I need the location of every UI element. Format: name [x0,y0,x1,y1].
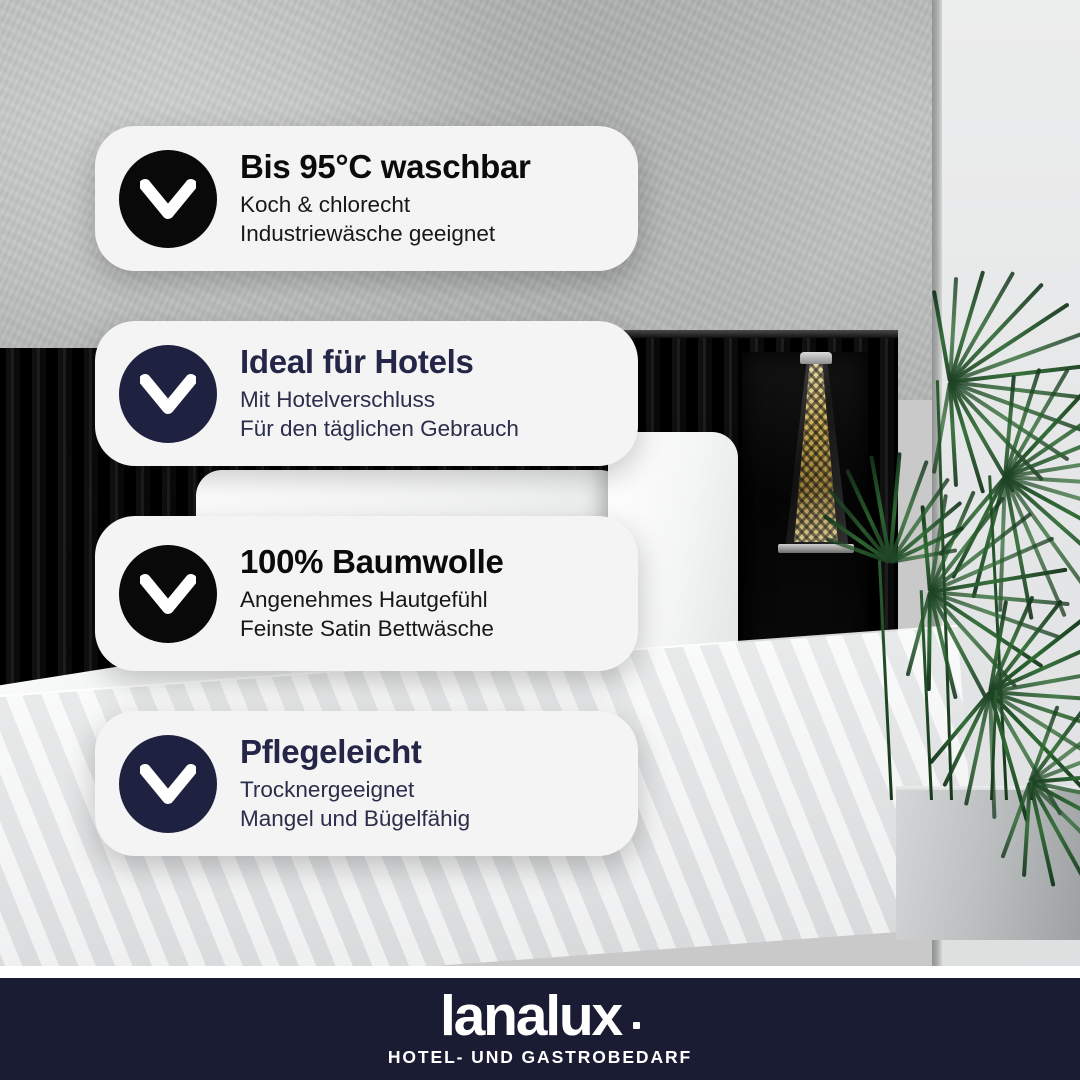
feature-card[interactable]: Ideal für Hotels Mit Hotelverschluss Für… [95,321,638,466]
check-icon [140,372,196,416]
feature-card[interactable]: Bis 95°C waschbar Koch & chlorecht Indus… [95,126,638,271]
check-badge [119,735,217,833]
feature-card-title: Bis 95°C waschbar [240,149,531,185]
brand-name: lanalux [440,990,621,1042]
feature-card-text: Ideal für Hotels Mit Hotelverschluss Für… [240,344,519,443]
check-icon [140,177,196,221]
feature-card[interactable]: 100% Baumwolle Angenehmes Hautgefühl Fei… [95,516,638,671]
marketing-banner: Bis 95°C waschbar Koch & chlorecht Indus… [0,0,1080,1080]
check-icon [140,762,196,806]
feature-card-line: Angenehmes Hautgefühl [240,585,504,614]
feature-card-title: Pflegeleicht [240,734,470,770]
feature-card-line: Mangel und Bügelfähig [240,804,470,833]
brand-mark-dot-icon [633,1022,640,1029]
feature-card-text: 100% Baumwolle Angenehmes Hautgefühl Fei… [240,544,504,643]
brand-logo: lanalux [440,990,640,1042]
feature-card-line: Koch & chlorecht [240,190,531,219]
feature-card-title: 100% Baumwolle [240,544,504,580]
feature-card-title: Ideal für Hotels [240,344,519,380]
check-badge [119,545,217,643]
brand-tagline: HOTEL- UND GASTROBEDARF [388,1047,692,1068]
feature-card-text: Pflegeleicht Trocknergeeignet Mangel und… [240,734,470,833]
check-badge [119,150,217,248]
footer-divider [0,966,1080,978]
check-icon [140,572,196,616]
feature-card-line: Für den täglichen Gebrauch [240,414,519,443]
feature-card-list: Bis 95°C waschbar Koch & chlorecht Indus… [0,0,1080,980]
check-badge [119,345,217,443]
feature-card-line: Mit Hotelverschluss [240,385,519,414]
feature-card-line: Feinste Satin Bettwäsche [240,614,504,643]
feature-card-line: Industriewäsche geeignet [240,219,531,248]
feature-card-line: Trocknergeeignet [240,775,470,804]
brand-footer: lanalux HOTEL- UND GASTROBEDARF [0,978,1080,1080]
feature-card-text: Bis 95°C waschbar Koch & chlorecht Indus… [240,149,531,248]
feature-card[interactable]: Pflegeleicht Trocknergeeignet Mangel und… [95,711,638,856]
